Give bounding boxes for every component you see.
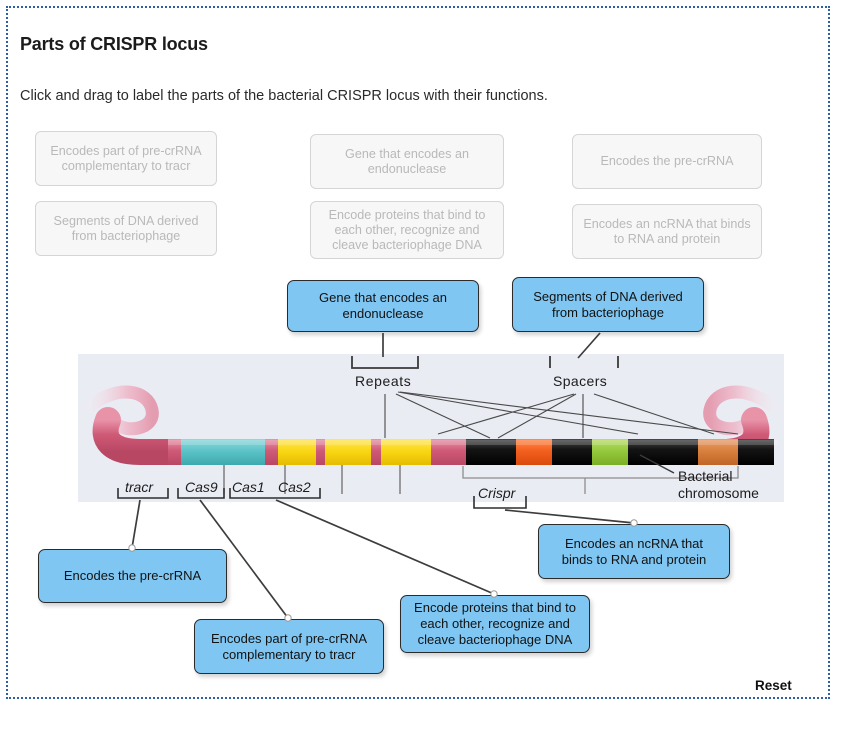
locus-svg: Repeats Spacers (78, 354, 784, 502)
crispr-locus-diagram: Repeats Spacers (78, 354, 784, 502)
reset-button[interactable]: Reset (755, 678, 792, 693)
connector-encode-proteins (276, 500, 494, 594)
spacers-bracket (550, 356, 618, 368)
crispr-span-bracket (463, 466, 738, 478)
chip-pre-crrna[interactable]: Encodes the pre-crRNA (38, 549, 227, 603)
connector-pre-crrna (132, 500, 140, 548)
instructions-text: Click and drag to label the parts of the… (20, 88, 548, 104)
bar-sheen (168, 440, 778, 445)
repeat-spacer-leader-lines (385, 392, 738, 438)
chip-encode-proteins[interactable]: Encode proteins that bind to each other,… (400, 595, 590, 653)
chip-endonuclease[interactable]: Gene that encodes an endonuclease (287, 280, 479, 332)
page-title: Parts of CRISPR locus (20, 34, 208, 55)
slot-encode-proteins[interactable]: Encode proteins that bind to each other,… (310, 201, 504, 259)
connector-ncrna (505, 510, 634, 523)
slot-pre-crrna[interactable]: Encodes the pre-crRNA (572, 134, 762, 189)
slot-segments-dna[interactable]: Segments of DNA derived from bacteriopha… (35, 201, 217, 256)
chip-pre-crrna-complementary[interactable]: Encodes part of pre-crRNA complementary … (194, 619, 384, 674)
gene-tick-marks (224, 465, 400, 494)
repeats-bracket (352, 356, 418, 368)
slot-pre-crrna-complementary[interactable]: Encodes part of pre-crRNA complementary … (35, 131, 217, 186)
crispr-labeling-activity: Parts of CRISPR locus Click and drag to … (0, 0, 842, 739)
repeats-label: Repeats (355, 373, 411, 389)
chip-segments-dna[interactable]: Segments of DNA derived from bacteriopha… (512, 277, 704, 332)
spacers-label: Spacers (553, 373, 607, 389)
slot-ncrna[interactable]: Encodes an ncRNA that binds to RNA and p… (572, 204, 762, 259)
slot-endonuclease[interactable]: Gene that encodes an endonuclease (310, 134, 504, 189)
chip-ncrna[interactable]: Encodes an ncRNA that binds to RNA and p… (538, 524, 730, 579)
